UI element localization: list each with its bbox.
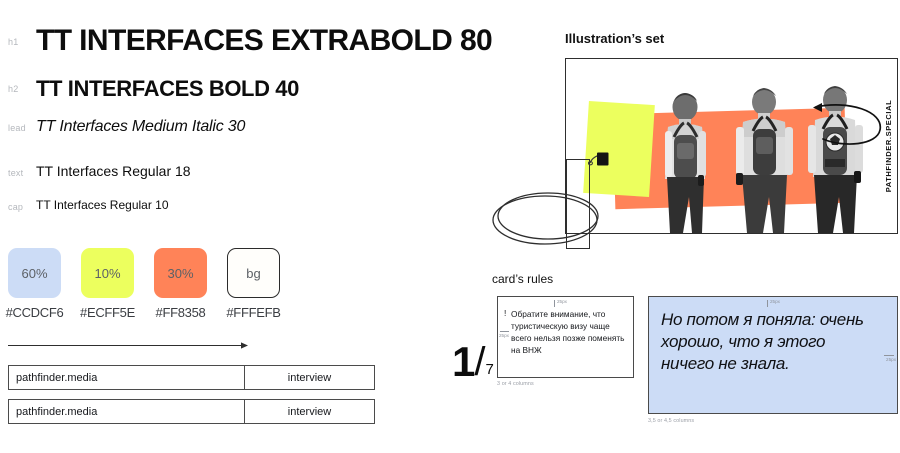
loop-arrow-icon — [808, 101, 886, 151]
width-measure-arrow-icon — [8, 341, 248, 350]
rule-card-blue: Но потом я поняла: очень хорошо, что я э… — [648, 296, 898, 414]
binder-clip-icon — [588, 149, 610, 169]
type-tag-lead: lead — [8, 123, 26, 133]
type-sample-cap: TT Interfaces Regular 10 — [36, 198, 169, 212]
swatch-hex-10: #ECFF5E — [80, 305, 135, 320]
swatch-bg: bg #FFFEFB — [227, 248, 280, 320]
type-tag-h1: h1 — [8, 37, 18, 47]
pad-left-label: 25px — [499, 333, 509, 338]
logo-bar-suffix: interview — [245, 366, 374, 389]
figure-center — [733, 87, 795, 233]
pad-left-tick — [500, 331, 509, 332]
pad-right-tick — [884, 355, 894, 356]
color-palette: 60% #CCDCF6 10% #ECFF5E 30% #FF8358 bg #… — [8, 248, 280, 320]
swatch-10: 10% #ECFF5E — [81, 248, 134, 320]
logo-bar-row: pathfinder.media interview — [8, 365, 375, 390]
type-sample-text: TT Interfaces Regular 18 — [36, 163, 191, 179]
logo-bar-brand: pathfinder.media — [9, 366, 245, 389]
type-sample-h2: TT INTERFACES BOLD 40 — [36, 76, 299, 102]
type-tag-cap: cap — [8, 202, 23, 212]
swatch-chip-10: 10% — [81, 248, 134, 298]
logo-bar-suffix: interview — [245, 400, 374, 423]
cards-rules-title: card’s rules — [492, 272, 553, 286]
figure-left — [654, 91, 716, 233]
swatch-60: 60% #CCDCF6 — [8, 248, 61, 320]
type-sample-lead: TT Interfaces Medium Italic 30 — [36, 118, 245, 136]
logo-bar-brand: pathfinder.media — [9, 400, 245, 423]
rule-card-white: ! Обратите внимание, что туристическую в… — [497, 296, 634, 378]
pad-top-label: 25px — [557, 299, 567, 304]
swatch-hex-bg: #FFFEFB — [226, 305, 280, 320]
illustration-frame: PATHFINDER.SPECIAL — [565, 58, 898, 234]
fraction-slash: / — [474, 344, 485, 380]
fraction-denominator: 7 — [485, 362, 493, 377]
fraction-numerator: 1 — [452, 344, 473, 380]
pad-top-tick — [767, 300, 768, 307]
swatch-chip-60: 60% — [8, 248, 61, 298]
pad-right-label: 25px — [886, 357, 896, 362]
page-fraction: 1 / 7 — [452, 334, 494, 380]
rule-card-white-text: Обратите внимание, что туристическую виз… — [511, 308, 627, 356]
swatch-hex-30: #FF8358 — [156, 305, 206, 320]
swatch-chip-bg: bg — [227, 248, 280, 298]
rule-card-blue-text: Но потом я поняла: очень хорошо, что я э… — [661, 309, 879, 374]
type-tag-h2: h2 — [8, 84, 18, 94]
type-sample-h1: TT INTERFACES EXTRABOLD 80 — [36, 24, 492, 58]
ellipse-doodle-icon — [490, 187, 600, 249]
pad-top-tick — [554, 300, 555, 307]
swatch-hex-60: #CCDCF6 — [6, 305, 64, 320]
pad-top-label: 25px — [770, 299, 780, 304]
rule-card-white-note: 3 or 4 columns — [497, 381, 534, 387]
type-tag-text: text — [8, 168, 23, 178]
style-guide-canvas: h1 TT INTERFACES EXTRABOLD 80 h2 TT INTE… — [0, 0, 900, 453]
illustration-set-title: Illustration’s set — [565, 31, 664, 46]
logo-bar-row: pathfinder.media interview — [8, 399, 375, 424]
swatch-30: 30% #FF8358 — [154, 248, 207, 320]
attention-bang: ! — [504, 308, 506, 318]
rule-card-blue-note: 3,5 or 4,5 columns — [648, 418, 694, 424]
swatch-chip-30: 30% — [154, 248, 207, 298]
